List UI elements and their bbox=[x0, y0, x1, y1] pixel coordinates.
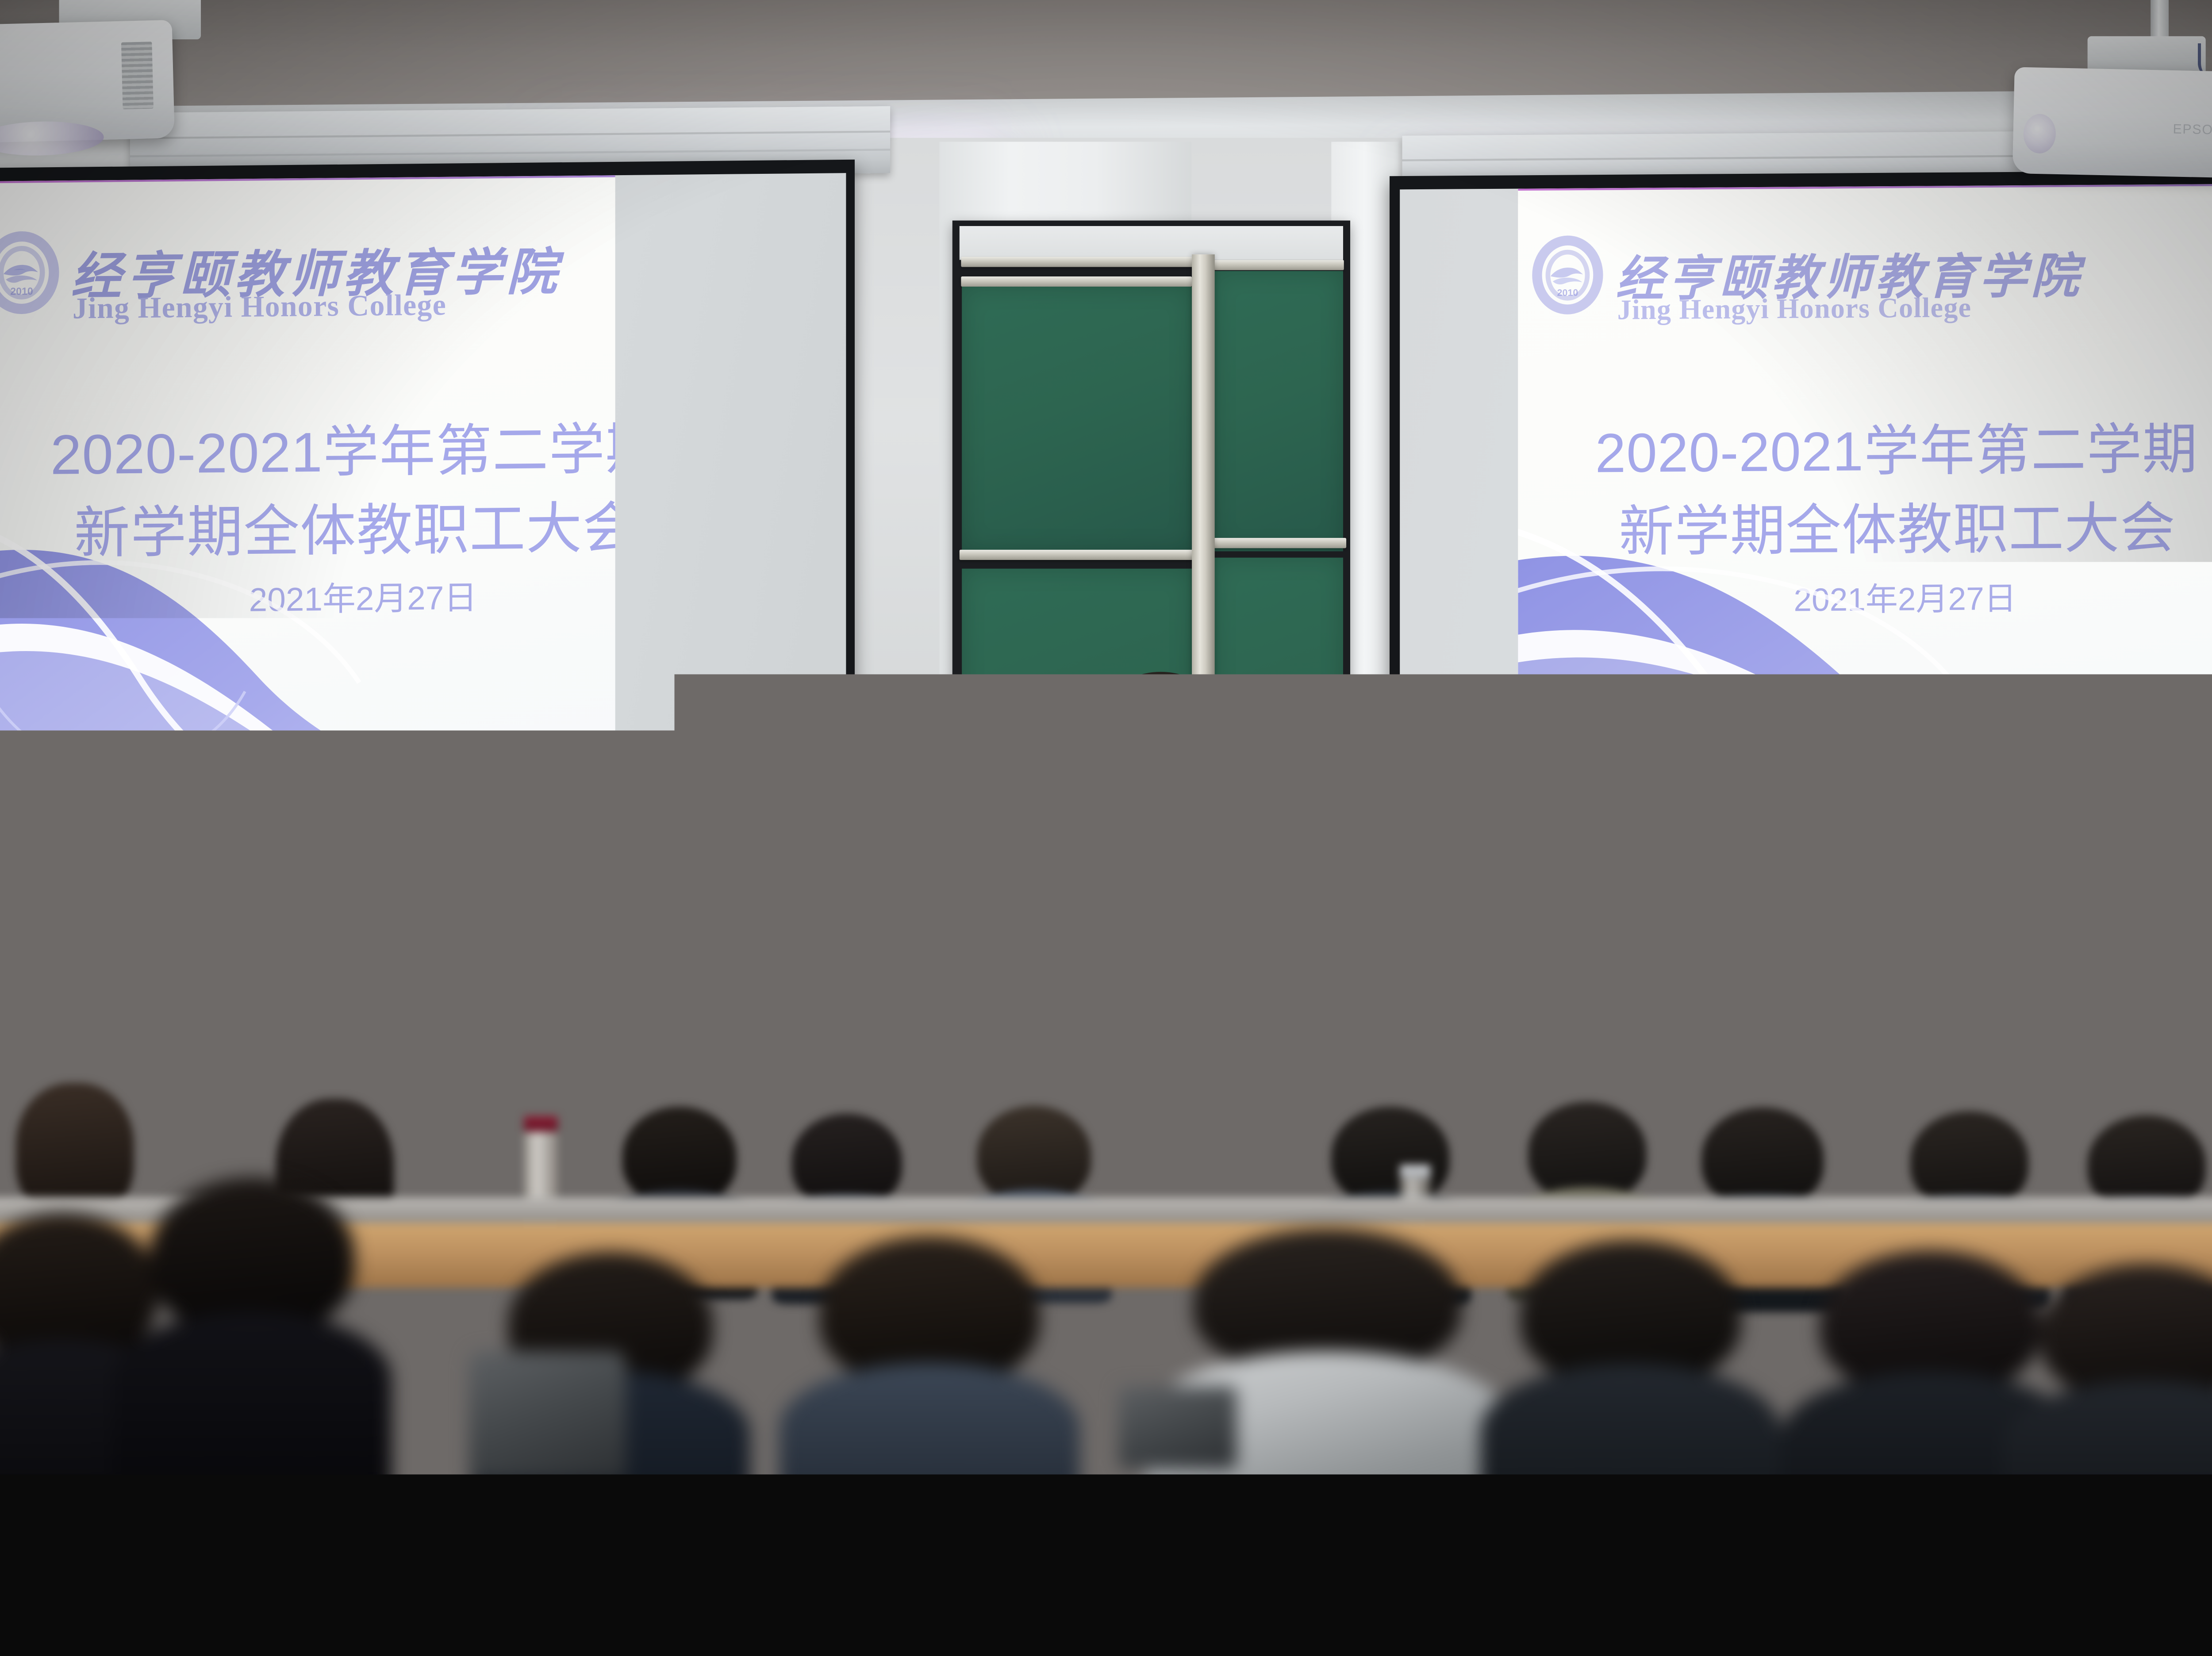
college-logo-right: 2010 bbox=[1532, 235, 1603, 314]
microphone-head bbox=[1023, 790, 1039, 806]
bottle-foreground-left bbox=[1639, 1351, 1682, 1469]
projector-right: EPSON bbox=[2012, 67, 2212, 178]
projector-mount-right bbox=[2088, 36, 2206, 74]
microphone-cable bbox=[1064, 875, 1182, 886]
chalkboard-panel-upper-left bbox=[962, 287, 1192, 551]
chalkboard-rail-top-right bbox=[1208, 260, 1344, 270]
slide-org-name-en: Jing Hengyi Honors College bbox=[73, 288, 446, 326]
dark-bag-foreground bbox=[1347, 1335, 1686, 1465]
speaker-mouth bbox=[1149, 744, 1172, 751]
foreground-objects bbox=[0, 1292, 2212, 1474]
chalkboard-rail-mid-right bbox=[1211, 538, 1346, 548]
projector-lens-right bbox=[2023, 114, 2056, 154]
speaker-glasses-icon bbox=[1115, 706, 1207, 732]
screen-fabric-right: 2010 经亨颐教师教育学院 Jing Hengyi Honors Colleg… bbox=[1400, 184, 2212, 843]
speaker-eye-right bbox=[1171, 714, 1184, 719]
paper-packet-red-band bbox=[637, 1365, 743, 1381]
chalkboard-rail-top-left-2 bbox=[961, 276, 1192, 287]
screen-fabric-left: 2010 经亨颐教师教育学院 Jing Hengyi Honors Colleg… bbox=[0, 173, 846, 847]
chalkboard-panel-upper-right bbox=[1213, 271, 1343, 552]
slide-wave-decoration-left bbox=[0, 468, 615, 847]
logo-bird-icon bbox=[2, 256, 41, 289]
projected-slide-right: 2010 经亨颐教师教育学院 Jing Hengyi Honors Colleg… bbox=[1518, 184, 2212, 843]
college-logo-left: 2010 bbox=[0, 231, 59, 314]
projector-left bbox=[0, 20, 175, 144]
chalkboard-rail-top-left bbox=[961, 257, 1202, 267]
projector-brand-label-right: EPSON bbox=[2173, 122, 2212, 138]
logo-year-label-right: 2010 bbox=[1542, 287, 1594, 299]
speaker-shirt-placket bbox=[1156, 792, 1163, 922]
projected-slide-left: 2010 经亨颐教师教育学院 Jing Hengyi Honors Colleg… bbox=[0, 175, 615, 847]
lecture-hall-photo: 2010 经亨颐教师教育学院 Jing Hengyi Honors Colleg… bbox=[0, 0, 2212, 1474]
logo-year-label: 2010 bbox=[0, 285, 49, 298]
projector-vent-left bbox=[121, 42, 154, 109]
slide-wave-decoration-right bbox=[1518, 471, 2212, 842]
logo-bird-icon-right bbox=[1549, 260, 1586, 291]
chalkboard-rail-mid-left bbox=[960, 550, 1194, 560]
projection-screen-right: 2010 经亨颐教师教育学院 Jing Hengyi Honors Colleg… bbox=[1390, 170, 2212, 869]
chalkboard-upper-wall bbox=[960, 226, 1343, 260]
projection-screen-left: 2010 经亨颐教师教育学院 Jing Hengyi Honors Colleg… bbox=[0, 160, 855, 873]
slide-org-name-en-right: Jing Hengyi Honors College bbox=[1617, 291, 1972, 326]
paper-packet bbox=[614, 1355, 757, 1414]
speaker-eye-left bbox=[1133, 715, 1147, 720]
